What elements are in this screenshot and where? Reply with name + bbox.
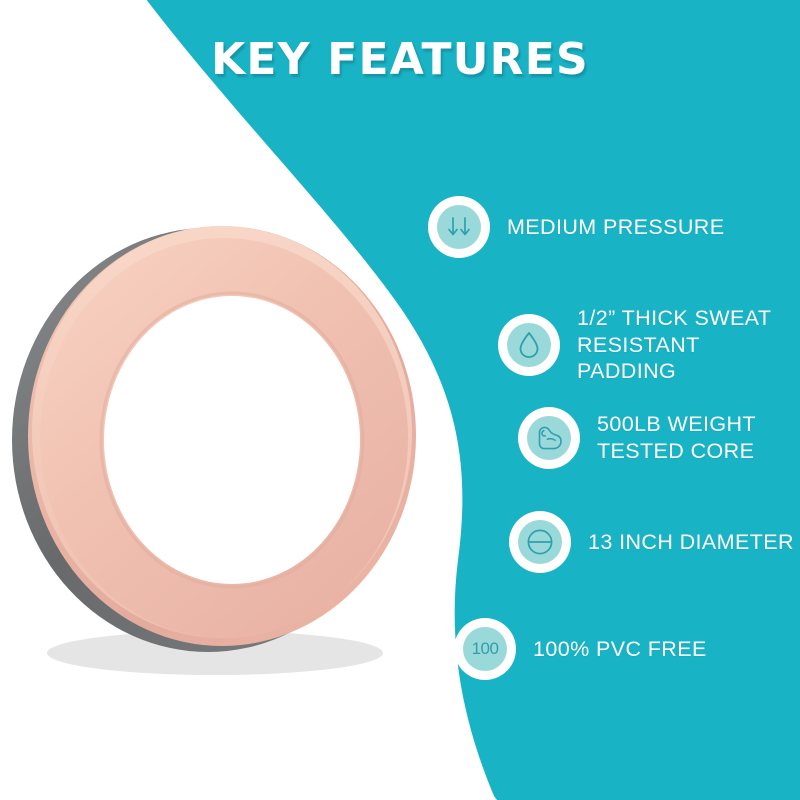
hundred-badge-icon: 100 bbox=[463, 627, 507, 671]
double-down-arrow-icon bbox=[437, 205, 481, 249]
infographic-canvas: KEY FEATURES bbox=[0, 0, 800, 800]
yoga-wheel-graphic bbox=[10, 218, 420, 678]
product-image-yoga-wheel bbox=[10, 218, 420, 678]
circle-diameter-icon bbox=[518, 520, 562, 564]
feature-item-diameter[interactable]: 13 INCH DIAMETER bbox=[518, 520, 794, 564]
feature-label: 13 INCH DIAMETER bbox=[588, 529, 794, 556]
wheel-inner-hole bbox=[104, 296, 360, 584]
feature-label: 1/2” THICK SWEAT RESISTANT PADDING bbox=[577, 305, 800, 385]
feature-label: 500LB WEIGHT TESTED CORE bbox=[597, 411, 756, 464]
feature-label: 100% PVC FREE bbox=[533, 636, 707, 663]
flexed-bicep-icon bbox=[527, 416, 571, 460]
feature-item-medium-pressure[interactable]: MEDIUM PRESSURE bbox=[437, 205, 724, 249]
water-droplet-icon bbox=[507, 323, 551, 367]
feature-item-sweat-resistant-padding[interactable]: 1/2” THICK SWEAT RESISTANT PADDING bbox=[507, 305, 800, 385]
hundred-badge-text: 100 bbox=[472, 639, 499, 659]
page-title: KEY FEATURES bbox=[0, 34, 800, 85]
feature-item-weight-tested-core[interactable]: 500LB WEIGHT TESTED CORE bbox=[527, 411, 756, 464]
feature-label: MEDIUM PRESSURE bbox=[507, 214, 724, 241]
feature-item-pvc-free[interactable]: 100 100% PVC FREE bbox=[463, 627, 707, 671]
